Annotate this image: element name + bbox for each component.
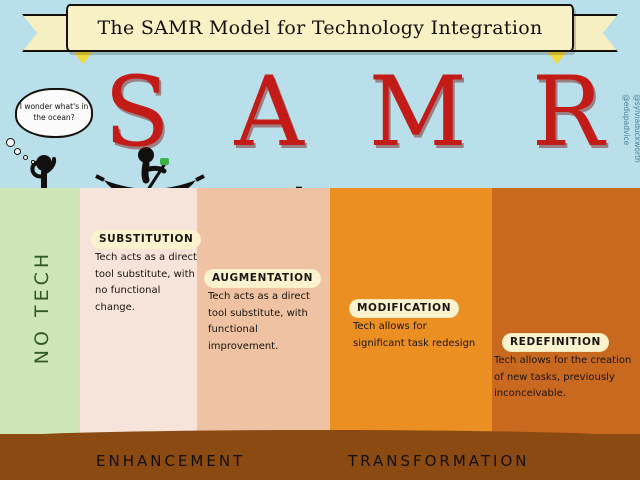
level-text-modification: Tech allows for significant task redesig… (353, 319, 478, 352)
samr-poster: The SAMR Model for Technology Integratio… (0, 0, 640, 480)
thought-bubble-dot (31, 160, 35, 164)
thought-bubble-text: I wonder what's in the ocean? (17, 102, 91, 124)
grouping-label-transformation: TRANSFORMATION (348, 452, 530, 470)
page-title: The SAMR Model for Technology Integratio… (97, 17, 542, 39)
attribution: @sylviaduckworth @edupadvice (621, 94, 640, 163)
attribution-handle-primary: @sylviaduckworth (632, 94, 640, 163)
thought-bubble: I wonder what's in the ocean? (15, 88, 93, 138)
level-text-augmentation: Tech acts as a direct tool substitute, w… (208, 289, 322, 355)
thought-bubble-dot (14, 148, 21, 155)
level-label-modification: MODIFICATION (350, 300, 458, 317)
level-label-substitution: SUBSTITUTION (92, 231, 200, 248)
level-label-augmentation: AUGMENTATION (205, 270, 320, 287)
title-banner: The SAMR Model for Technology Integratio… (22, 4, 618, 60)
thought-bubble-dot (23, 155, 28, 160)
banner-plate: The SAMR Model for Technology Integratio… (66, 4, 574, 52)
level-text-redefinition: Tech allows for the creation of new task… (494, 353, 638, 403)
level-label-redefinition: REDEFINITION (503, 334, 608, 351)
no-tech-label: NO TECH (31, 237, 53, 377)
level-text-substitution: Tech acts as a direct tool substitute, w… (95, 250, 199, 316)
samr-levels: NO TECH SUBSTITUTION Tech acts as a dire… (0, 188, 640, 440)
grouping-label-enhancement: ENHANCEMENT (96, 452, 245, 470)
attribution-handle-secondary: @edupadvice (621, 94, 632, 163)
level-panel-no-tech: NO TECH (0, 188, 80, 440)
thought-bubble-dot (6, 138, 15, 147)
